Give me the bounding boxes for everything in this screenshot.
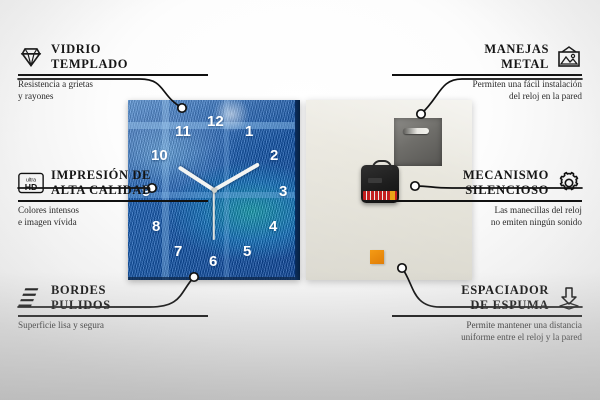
mechanism-hanger-loop	[372, 160, 392, 170]
diagonal-lines-icon	[18, 285, 44, 311]
clock-numeral-1: 1	[245, 124, 253, 139]
infographic-canvas: 12 1 2 3 4 5 6 7 8 9 10 11	[0, 0, 600, 400]
callout-divider	[18, 200, 208, 202]
callout-header: ESPACIADORDE ESPUMA	[392, 283, 582, 312]
callout-header: VIDRIOTEMPLADO	[18, 42, 208, 71]
gear-icon	[556, 170, 582, 196]
svg-text:HD: HD	[25, 181, 38, 191]
clock-numeral-7: 7	[174, 244, 182, 259]
callout-divider	[392, 315, 582, 317]
callout-vidrio-templado: VIDRIOTEMPLADO Resistencia a grietasy ra…	[18, 42, 208, 103]
callout-impresion-alta-calidad: ultra HD IMPRESIÓN DEALTA CALIDAD Colore…	[18, 168, 208, 229]
callout-description: Resistencia a grietasy rayones	[18, 79, 208, 103]
diamond-icon	[18, 44, 44, 70]
callout-title: ESPACIADORDE ESPUMA	[461, 283, 549, 312]
callout-header: MECANISMOSILENCIOSO	[392, 168, 582, 197]
clock-numeral-2: 2	[270, 148, 278, 163]
foam-spacer-pad	[370, 250, 384, 264]
clock-bottom-edge	[128, 277, 295, 280]
callout-description: Permite mantener una distanciauniforme e…	[392, 320, 582, 344]
callout-header: BORDESPULIDOS	[18, 283, 208, 312]
callout-title: MANEJASMETAL	[484, 42, 549, 71]
clock-numeral-4: 4	[269, 219, 277, 234]
clock-numeral-11: 11	[175, 124, 191, 139]
clock-numeral-5: 5	[243, 244, 251, 259]
callout-title: MECANISMOSILENCIOSO	[463, 168, 549, 197]
metal-hanger-plate	[394, 118, 442, 166]
callout-title: VIDRIOTEMPLADO	[51, 42, 128, 71]
hanger-slot	[403, 128, 429, 134]
clock-numeral-10: 10	[151, 148, 168, 163]
ultra-hd-icon: ultra HD	[18, 170, 44, 196]
callout-divider	[18, 74, 208, 76]
callout-description: Colores intensose imagen vívida	[18, 205, 208, 229]
picture-frame-icon	[556, 44, 582, 70]
callout-mecanismo-silencioso: MECANISMOSILENCIOSO Las manecillas del r…	[392, 168, 582, 229]
clock-center-hub	[212, 188, 217, 193]
callout-divider	[392, 200, 582, 202]
mechanism-detail	[368, 178, 382, 183]
callout-description: Las manecillas del relojno emiten ningún…	[392, 205, 582, 229]
callout-description: Superficie lisa y segura	[18, 320, 208, 332]
callout-espaciador-espuma: ESPACIADORDE ESPUMA Permite mantener una…	[392, 283, 582, 344]
callout-divider	[18, 315, 208, 317]
callout-description: Permiten una fácil instalacióndel reloj …	[392, 79, 582, 103]
callout-header: MANEJASMETAL	[392, 42, 582, 71]
callout-header: ultra HD IMPRESIÓN DEALTA CALIDAD	[18, 168, 208, 197]
callout-bordes-pulidos: BORDESPULIDOS Superficie lisa y segura	[18, 283, 208, 332]
down-arrow-plate-icon	[556, 285, 582, 311]
clock-second-hand	[213, 190, 215, 240]
clock-numeral-12: 12	[207, 114, 224, 129]
clock-numeral-3: 3	[279, 184, 287, 199]
callout-manejas-metal: MANEJASMETAL Permiten una fácil instalac…	[392, 42, 582, 103]
callout-title: IMPRESIÓN DEALTA CALIDAD	[51, 168, 152, 197]
callout-divider	[392, 74, 582, 76]
clock-side-edge	[295, 100, 300, 280]
clock-numeral-6: 6	[209, 254, 217, 269]
callout-title: BORDESPULIDOS	[51, 283, 111, 312]
